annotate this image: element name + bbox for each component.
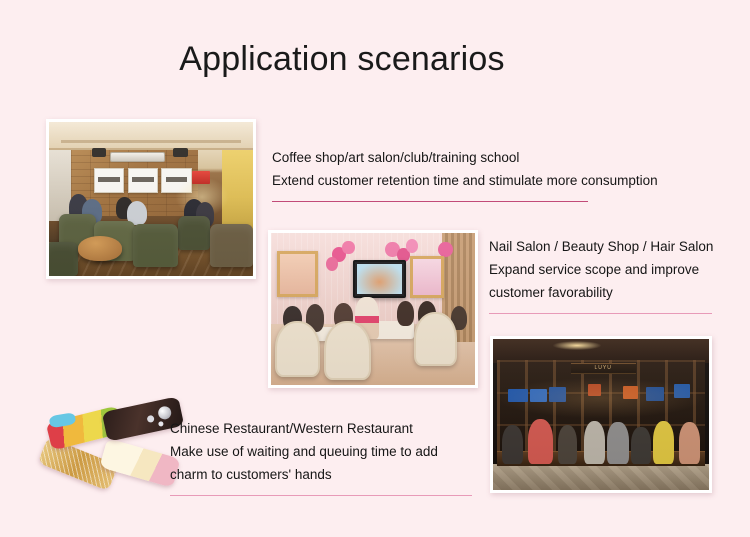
coffee-shop-interior-photo <box>46 119 256 279</box>
waiting-customer <box>631 427 650 465</box>
salon-customer <box>397 301 413 325</box>
waiting-customer <box>528 419 554 464</box>
waiting-customer <box>679 422 701 464</box>
scenario-description: Extend customer retention time and stimu… <box>272 169 658 192</box>
nail-art-tips-photo <box>40 392 180 504</box>
air-conditioner-icon <box>110 152 165 162</box>
nail-salon-interior-photo <box>268 230 478 388</box>
scenario-text-restaurant: Chinese Restaurant/Western Restaurant Ma… <box>170 417 472 496</box>
speaker-icon <box>173 148 187 157</box>
cafe-armchair <box>49 242 78 276</box>
salon-wall-poster <box>277 251 318 297</box>
waiting-customer <box>653 421 675 465</box>
restaurant-photo-canvas: LUYU <box>493 339 709 490</box>
oval-back-chair <box>275 321 320 377</box>
restaurant-sign-text: LUYU <box>571 364 636 373</box>
balloon-icon <box>342 241 354 255</box>
oval-back-chair <box>324 321 371 380</box>
scenario-description-line-2: customer favorability <box>489 281 713 304</box>
scenario-text-coffee-shop: Coffee shop/art salon/club/training scho… <box>272 146 658 202</box>
waiting-customer <box>558 425 577 464</box>
scenario-description-line-2: charm to customers' hands <box>170 463 472 486</box>
scenario-divider <box>272 201 588 202</box>
nail-salon-photo-canvas <box>271 233 475 385</box>
ceiling-light-icon <box>553 341 601 350</box>
waiting-customer <box>607 422 629 464</box>
cafe-ceiling <box>49 122 253 150</box>
waiting-customer <box>502 425 524 464</box>
application-scenarios-slide: Application scenarios <box>0 0 750 537</box>
scenario-divider <box>170 495 472 496</box>
waiting-customer <box>584 421 606 465</box>
salon-wall-poster <box>410 256 445 298</box>
cafe-armchair <box>210 224 253 267</box>
cafe-armchair <box>133 224 178 267</box>
page-title: Application scenarios <box>0 38 750 80</box>
scenario-divider <box>489 313 712 314</box>
cafe-ceiling-beam <box>61 140 241 143</box>
scenario-description-line-1: Make use of waiting and queuing time to … <box>170 440 472 463</box>
restaurant-pavement <box>493 464 709 490</box>
scenario-text-nail-salon: Nail Salon / Beauty Shop / Hair Salon Ex… <box>489 235 713 314</box>
red-lamp-shade <box>192 171 210 183</box>
oval-back-chair <box>414 312 457 366</box>
restaurant-warm-glow <box>499 378 702 417</box>
balloon-icon <box>406 239 418 253</box>
scenario-heading: Coffee shop/art salon/club/training scho… <box>272 146 658 169</box>
page-title-text: Application scenarios <box>179 38 505 80</box>
wall-tv-screen <box>353 260 406 297</box>
framed-picture <box>94 168 125 193</box>
restaurant-queue-photo: LUYU <box>490 336 712 493</box>
framed-picture <box>128 168 159 193</box>
cafe-round-table <box>78 236 123 261</box>
scenario-description-line-1: Expand service scope and improve <box>489 258 713 281</box>
scenario-heading: Nail Salon / Beauty Shop / Hair Salon <box>489 235 713 258</box>
cafe-armchair <box>178 216 211 250</box>
restaurant-signboard: LUYU <box>571 363 636 374</box>
speaker-icon <box>92 148 106 157</box>
coffee-shop-photo-canvas <box>49 122 253 276</box>
scenario-heading: Chinese Restaurant/Western Restaurant <box>170 417 472 440</box>
